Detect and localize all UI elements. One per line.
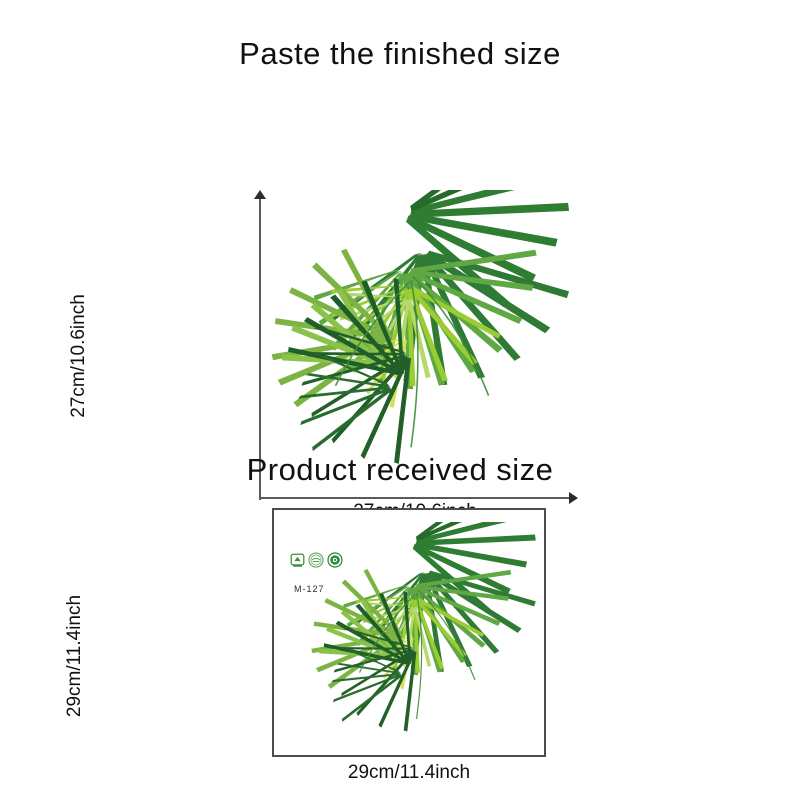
finished-height-label: 27cm/10.6inch bbox=[68, 271, 90, 441]
horizontal-dimension-line bbox=[259, 497, 571, 499]
product-size-infographic: Paste the finished size bbox=[0, 0, 800, 800]
palm-leaf-artwork-finished bbox=[262, 190, 580, 490]
product-sheet-frame: M-127 bbox=[272, 508, 546, 757]
page-title-product-size: Product received size bbox=[0, 452, 800, 488]
recycle-square-badge bbox=[290, 553, 305, 568]
finished-size-diagram: 27cm/10.6inch 27cm/10.6inch bbox=[0, 90, 800, 440]
palm-leaf-artwork-product bbox=[304, 522, 544, 754]
page-title-finished-size: Paste the finished size bbox=[0, 36, 800, 72]
arrow-right-icon bbox=[569, 492, 578, 504]
product-width-label: 29cm/11.4inch bbox=[272, 762, 546, 784]
product-height-label: 29cm/11.4inch bbox=[64, 571, 86, 741]
